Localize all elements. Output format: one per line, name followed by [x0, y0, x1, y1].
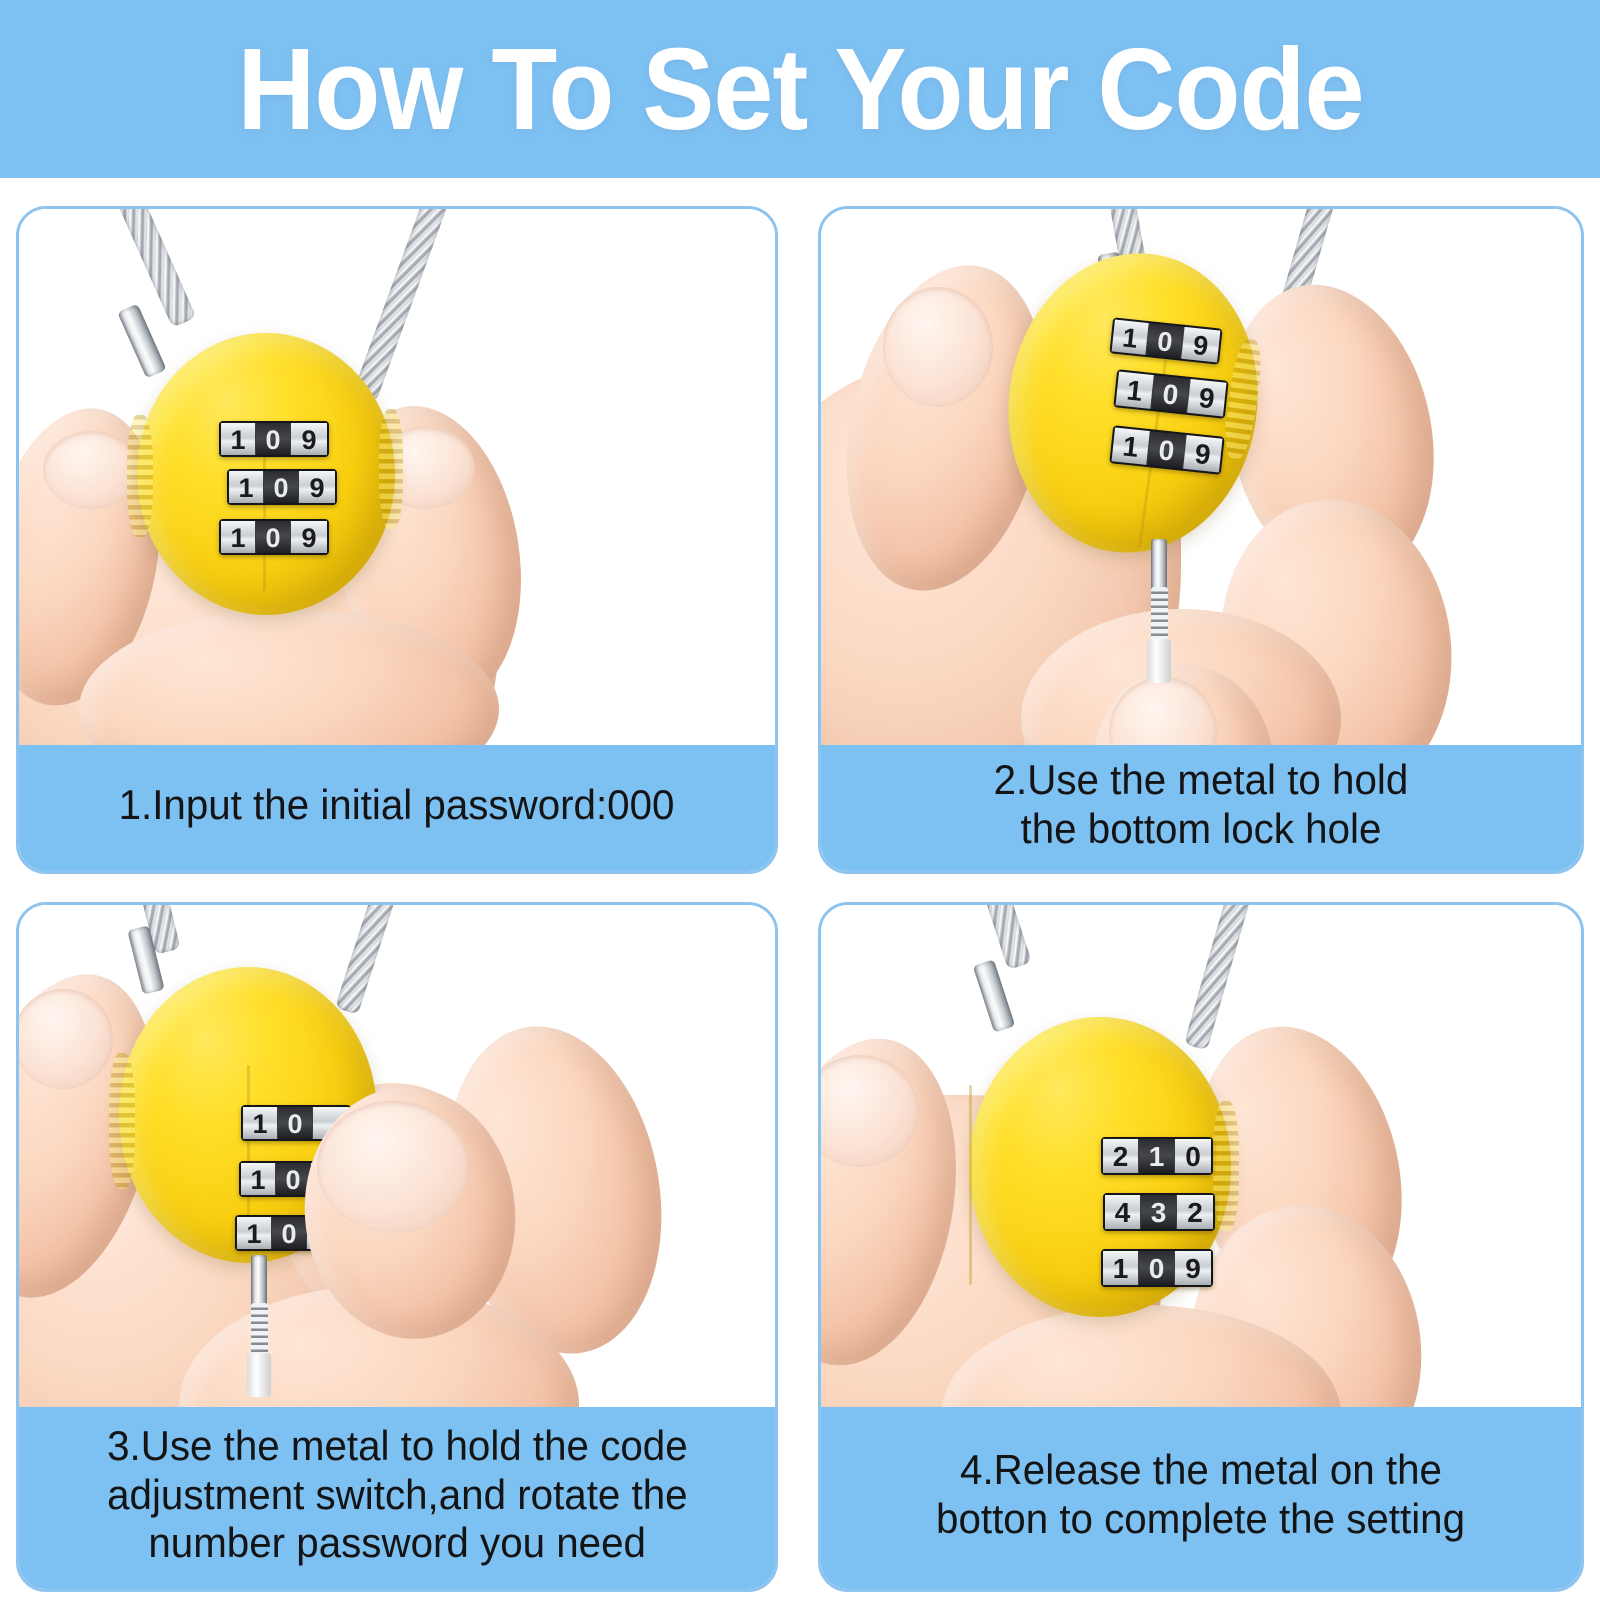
dial-digit[interactable]: 2	[1103, 1139, 1139, 1173]
dial-digit-selected[interactable]: 0	[1147, 431, 1186, 469]
dial-row-2[interactable]: 4 3 2	[1103, 1193, 1215, 1231]
dial-digit[interactable]: 1	[237, 1217, 272, 1249]
dial-digit[interactable]: 9	[291, 521, 327, 553]
dial-digit[interactable]: 0	[1175, 1139, 1211, 1173]
lock-edge-ridges	[1213, 1101, 1239, 1231]
dial-digit-selected[interactable]: 0	[1139, 1251, 1175, 1285]
fingernail-left	[43, 431, 139, 509]
dial-digit[interactable]: 2	[1177, 1195, 1213, 1229]
caption-line: 1.Input the initial password:000	[119, 781, 675, 830]
dial-digit[interactable]: 1	[1112, 427, 1151, 465]
dial-digit-selected[interactable]: 0	[256, 521, 291, 553]
step-4-photo: 2 1 0 4 3 2 1 0 9	[821, 905, 1581, 1413]
page-title: How To Set Your Code	[237, 31, 1363, 147]
lock-seam	[969, 1085, 972, 1285]
dial-digit-selected[interactable]: 0	[278, 1107, 313, 1139]
dial-digit-selected[interactable]: 1	[1139, 1139, 1175, 1173]
cable-left	[971, 905, 1032, 970]
cable-right	[352, 209, 454, 402]
caption-line: 4.Release the metal on the	[960, 1446, 1442, 1495]
thumbnail	[883, 287, 993, 407]
dial-row-3[interactable]: 1 0 9	[1101, 1249, 1213, 1287]
step-panel-2: 1 0 9 1 0 9 1 0 9	[818, 206, 1584, 874]
metal-pin-rings	[1151, 587, 1168, 641]
step-1-caption: 1.Input the initial password:000	[19, 745, 775, 871]
dial-digit-selected[interactable]: 0	[256, 423, 291, 455]
metal-pin-tip	[1147, 639, 1171, 683]
caption-line: adjustment switch,and rotate the	[107, 1471, 688, 1520]
dial-digit-selected[interactable]: 0	[1146, 323, 1184, 358]
dial-digit[interactable]: 1	[1103, 1251, 1139, 1285]
lock-edge-ridges	[109, 1053, 135, 1189]
step-1-photo: 1 0 9 1 0 9 1 0 9	[19, 209, 775, 751]
dial-digit[interactable]: 1	[241, 1163, 276, 1195]
dial-digit[interactable]: 9	[1175, 1251, 1211, 1285]
infographic-page: How To Set Your Code	[0, 0, 1600, 1600]
dial-digit[interactable]: 9	[1187, 379, 1226, 417]
step-panel-4: 2 1 0 4 3 2 1 0 9 4.Release the metal on…	[818, 902, 1584, 1592]
step-2-photo: 1 0 9 1 0 9 1 0 9	[821, 209, 1581, 751]
caption-line: the bottom lock hole	[1021, 805, 1382, 854]
step-3-photo: 1 0 1 0 1 0 9	[19, 905, 775, 1413]
cable-ferrule-left	[117, 304, 166, 379]
cable-right	[335, 905, 407, 1015]
dial-digit[interactable]: 1	[1116, 371, 1155, 409]
dial-row-1[interactable]: 1 0 9	[219, 421, 329, 457]
dial-row-1[interactable]: 2 1 0	[1101, 1137, 1213, 1175]
step-2-caption: 2.Use the metal to hold the bottom lock …	[821, 745, 1581, 871]
dial-digit[interactable]: 1	[1112, 320, 1150, 355]
dial-row-3[interactable]: 1 0 9	[219, 519, 329, 555]
dial-digit-selected[interactable]: 3	[1141, 1195, 1177, 1229]
caption-line: 3.Use the metal to hold the code	[107, 1422, 688, 1471]
cable-ferrule-left	[973, 959, 1016, 1032]
dial-digit[interactable]: 1	[221, 423, 256, 455]
dial-row-2[interactable]: 1 0 9	[227, 469, 337, 505]
lock-edge-ridges-right	[379, 409, 403, 529]
dial-digit[interactable]: 1	[221, 521, 256, 553]
caption-line: number password you need	[148, 1519, 646, 1568]
caption-line: botton to complete the setting	[937, 1495, 1466, 1544]
dial-digit[interactable]: 9	[299, 471, 335, 503]
dial-digit[interactable]: 9	[291, 423, 327, 455]
metal-pin-rings	[251, 1303, 268, 1355]
metal-pin	[251, 1255, 267, 1309]
dial-digit-selected[interactable]: 0	[1151, 375, 1190, 413]
dial-digit[interactable]: 4	[1105, 1195, 1141, 1229]
step-panel-3: 1 0 1 0 1 0 9	[16, 902, 778, 1592]
header-banner: How To Set Your Code	[0, 0, 1600, 178]
cable-right	[1184, 905, 1262, 1050]
caption-line: 2.Use the metal to hold	[994, 756, 1409, 805]
thumbnail-overlay	[317, 1101, 469, 1233]
metal-pin-tip	[247, 1353, 271, 1397]
dial-digit-selected[interactable]: 0	[272, 1217, 307, 1249]
step-3-caption: 3.Use the metal to hold the code adjustm…	[19, 1407, 775, 1589]
dial-digit[interactable]: 1	[243, 1107, 278, 1139]
step-4-caption: 4.Release the metal on the botton to com…	[821, 1407, 1581, 1589]
dial-digit[interactable]: 9	[1183, 435, 1222, 473]
lock-edge-ridges	[127, 415, 153, 537]
step-panel-1: 1 0 9 1 0 9 1 0 9 1.Input the initial pa…	[16, 206, 778, 874]
dial-digit[interactable]: 9	[1181, 327, 1220, 363]
dial-digit[interactable]: 1	[229, 471, 264, 503]
dial-digit-selected[interactable]: 0	[264, 471, 299, 503]
